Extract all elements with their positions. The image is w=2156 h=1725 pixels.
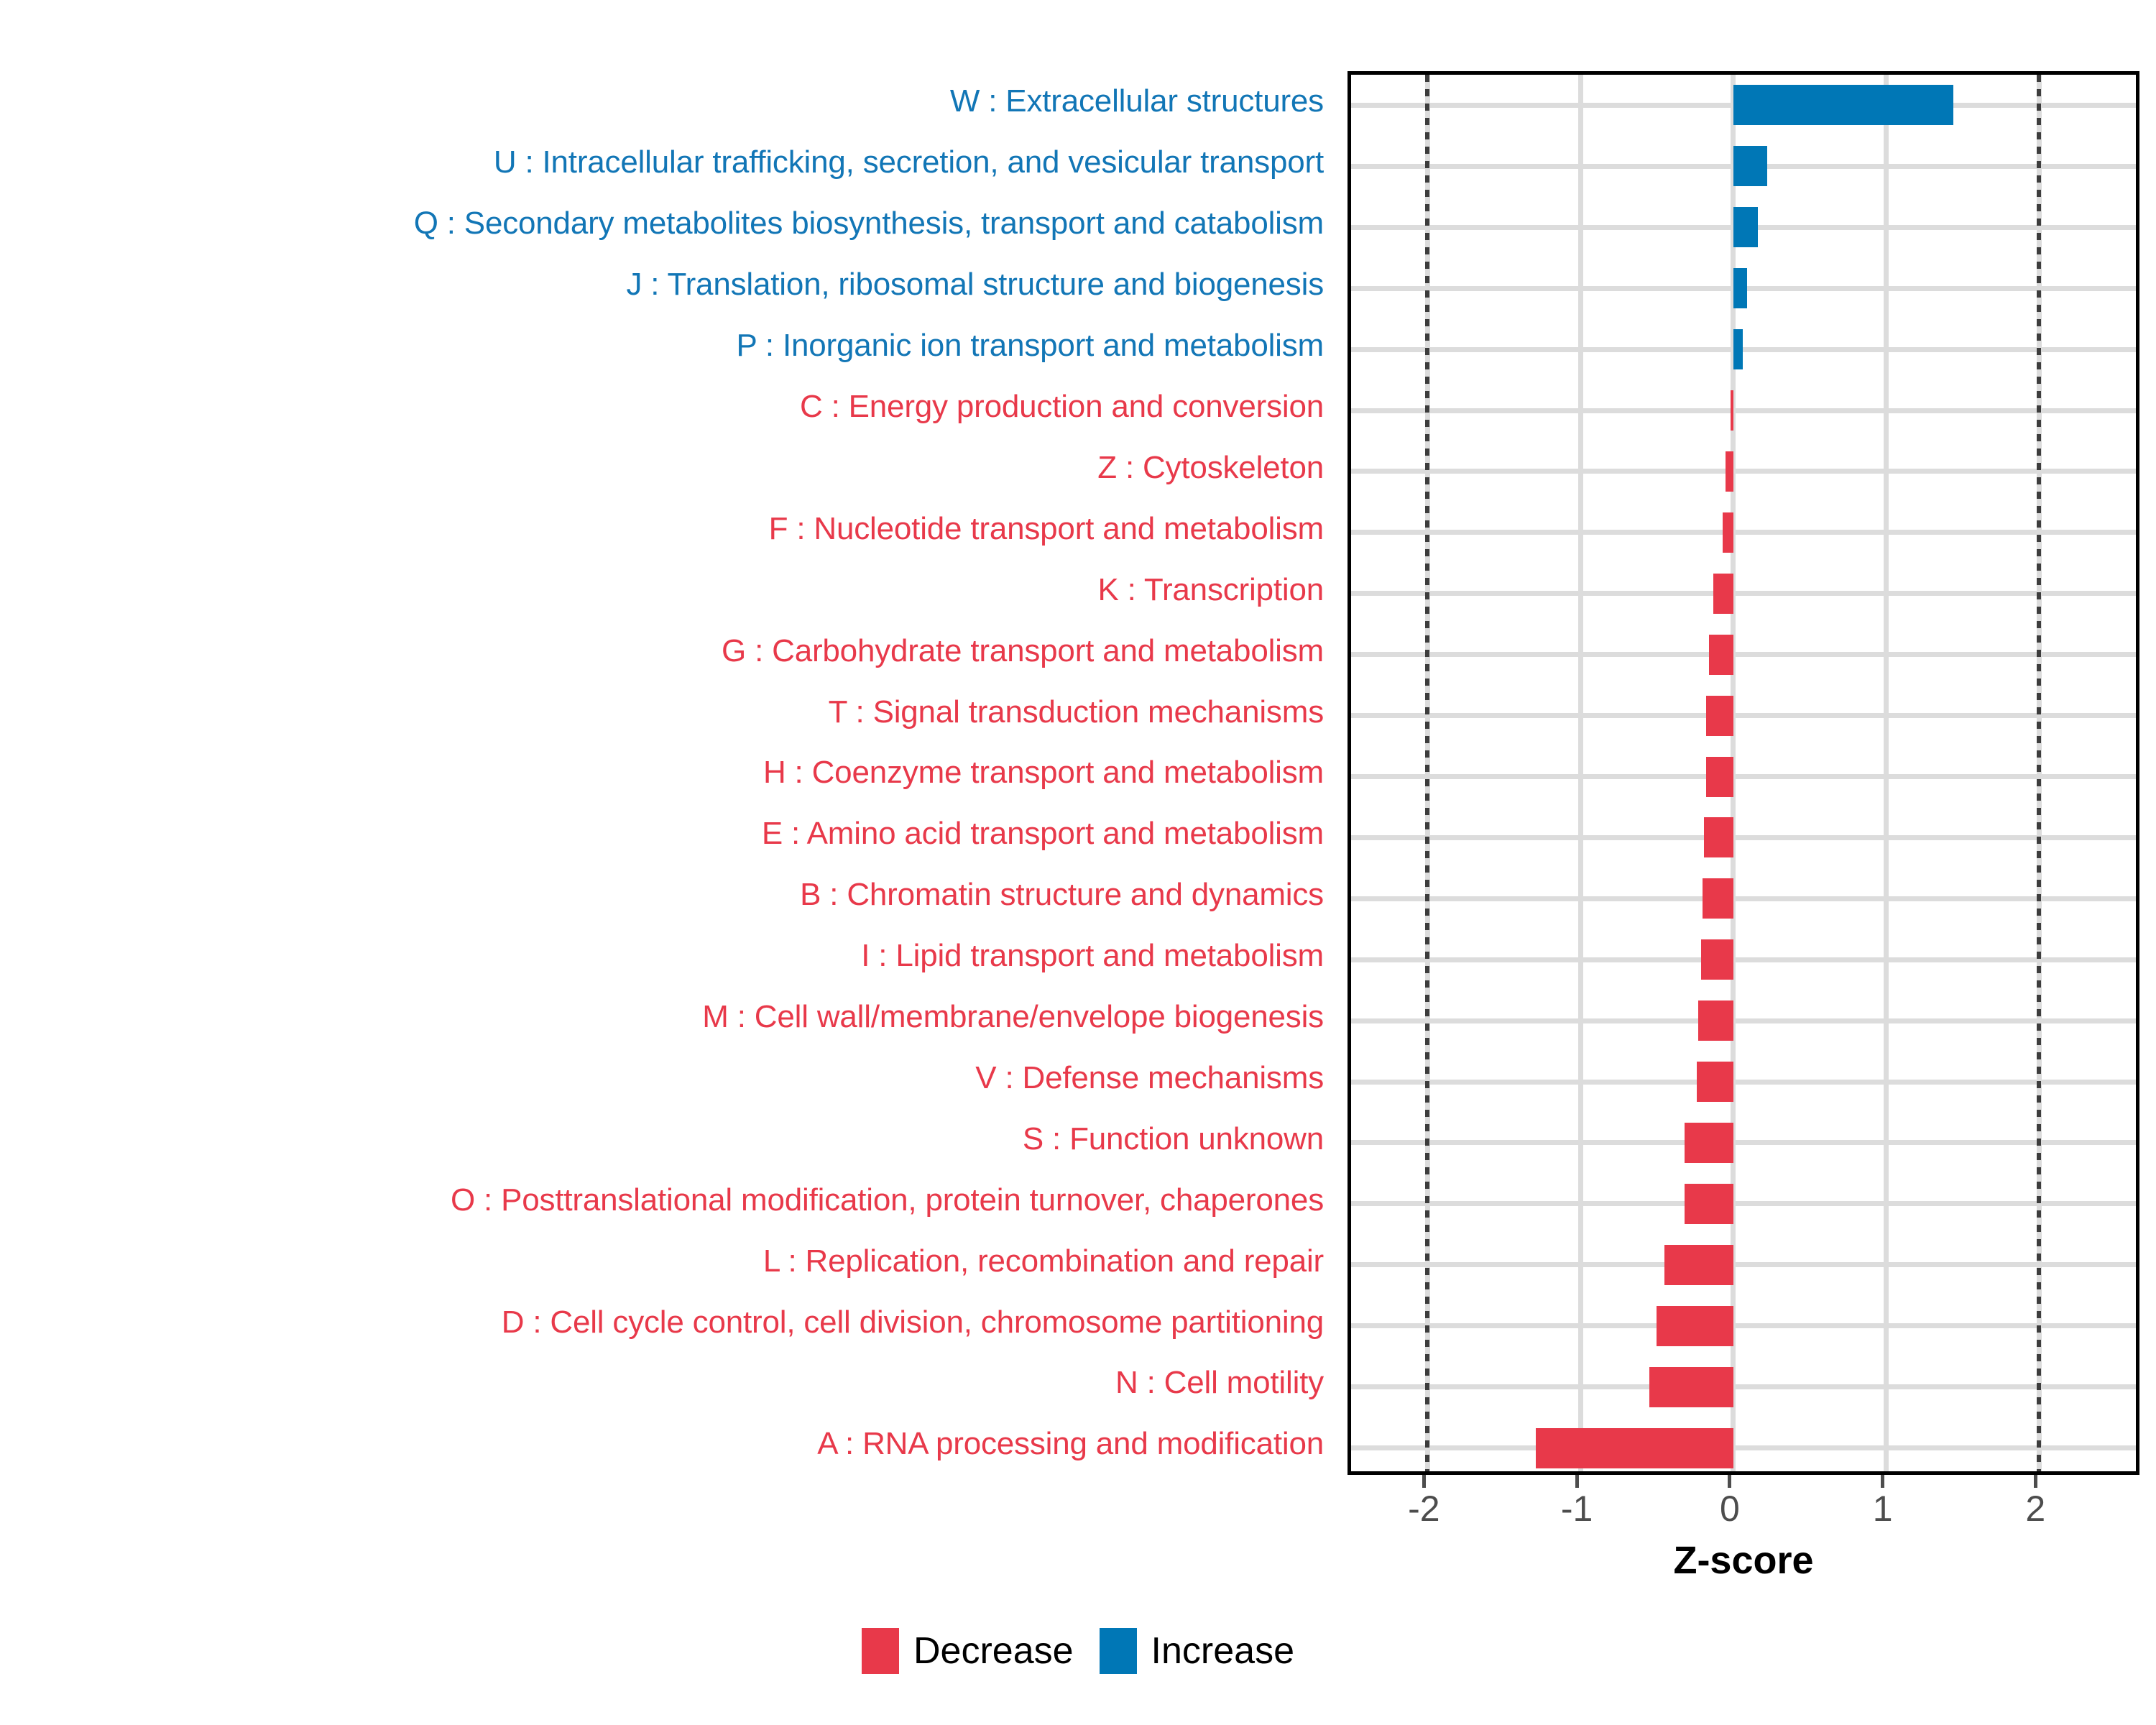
bar — [1701, 939, 1733, 980]
reference-line — [2037, 75, 2041, 1471]
y-axis-label: L : Replication, recombination and repai… — [763, 1246, 1337, 1277]
legend-label: Decrease — [913, 1632, 1074, 1670]
bar — [1726, 451, 1733, 492]
y-axis-label: T : Signal transduction mechanisms — [829, 696, 1337, 728]
plot-panel — [1347, 71, 2139, 1475]
y-axis-label: A : RNA processing and modification — [817, 1428, 1337, 1460]
bar — [1723, 512, 1733, 553]
horizontal-gridline — [1351, 713, 2136, 718]
legend-label: Increase — [1151, 1632, 1294, 1670]
chart-legend: DecreaseIncrease — [0, 1628, 2156, 1674]
y-axis-label: U : Intracellular trafficking, secretion… — [494, 147, 1337, 178]
bar — [1733, 329, 1743, 369]
horizontal-gridline — [1351, 957, 2136, 962]
horizontal-gridline — [1351, 652, 2136, 657]
y-axis-label: I : Lipid transport and metabolism — [861, 940, 1337, 972]
x-tick-label: 1 — [1873, 1491, 1893, 1527]
horizontal-gridline — [1351, 591, 2136, 596]
y-axis-label: D : Cell cycle control, cell division, c… — [502, 1307, 1337, 1338]
bar — [1733, 207, 1758, 247]
bar — [1657, 1306, 1733, 1346]
bar — [1706, 696, 1733, 736]
x-tick-label: -2 — [1408, 1491, 1439, 1527]
legend-item[interactable]: Decrease — [862, 1628, 1074, 1674]
y-axis-label: F : Nucleotide transport and metabolism — [769, 513, 1337, 545]
x-tick-mark — [1422, 1475, 1426, 1488]
bar — [1704, 817, 1733, 857]
vertical-gridline — [1884, 75, 1889, 1471]
y-axis-label: E : Amino acid transport and metabolism — [762, 818, 1337, 850]
horizontal-gridline — [1351, 469, 2136, 474]
plot-area — [1351, 75, 2136, 1471]
horizontal-gridline — [1351, 1140, 2136, 1145]
legend-swatch-icon — [1100, 1628, 1137, 1674]
bar — [1664, 1245, 1733, 1285]
horizontal-gridline — [1351, 835, 2136, 840]
y-axis-category-labels: W : Extracellular structuresU : Intracel… — [0, 71, 1337, 1475]
x-tick-mark — [1575, 1475, 1579, 1488]
bar — [1733, 268, 1747, 308]
horizontal-gridline — [1351, 774, 2136, 779]
x-tick-mark — [2034, 1475, 2037, 1488]
y-axis-label: K : Transcription — [1097, 574, 1337, 606]
x-axis-tick-labels: -2-1012 — [1347, 1491, 2139, 1534]
cog-zscore-bar-chart: W : Extracellular structuresU : Intracel… — [0, 0, 2156, 1725]
horizontal-gridline — [1351, 530, 2136, 535]
horizontal-gridline — [1351, 1201, 2136, 1206]
y-axis-label: Z : Cytoskeleton — [1097, 452, 1337, 484]
y-axis-label: P : Inorganic ion transport and metaboli… — [737, 330, 1337, 362]
y-axis-label: O : Posttranslational modification, prot… — [451, 1184, 1337, 1216]
x-tick-mark — [1881, 1475, 1884, 1488]
bar — [1649, 1367, 1733, 1407]
horizontal-gridline — [1351, 1384, 2136, 1389]
horizontal-gridline — [1351, 1262, 2136, 1267]
horizontal-gridline — [1351, 896, 2136, 901]
x-axis-tick-marks — [1347, 1475, 2139, 1489]
horizontal-gridline — [1351, 1445, 2136, 1450]
bar — [1709, 635, 1733, 675]
horizontal-gridline — [1351, 347, 2136, 352]
y-axis-label: B : Chromatin structure and dynamics — [800, 879, 1337, 911]
bar — [1706, 757, 1733, 797]
y-axis-label: J : Translation, ribosomal structure and… — [626, 269, 1337, 300]
x-tick-mark — [1728, 1475, 1731, 1488]
bar — [1713, 574, 1733, 614]
x-tick-label: 0 — [1720, 1491, 1740, 1527]
vertical-gridline — [1578, 75, 1583, 1471]
y-axis-label: H : Coenzyme transport and metabolism — [763, 757, 1337, 788]
legend-item[interactable]: Increase — [1100, 1628, 1294, 1674]
bar — [1536, 1428, 1733, 1468]
x-tick-label: -1 — [1561, 1491, 1593, 1527]
legend-swatch-icon — [862, 1628, 899, 1674]
bar — [1733, 85, 1953, 125]
bar — [1731, 390, 1733, 431]
y-axis-label: N : Cell motility — [1115, 1367, 1337, 1399]
y-axis-label: V : Defense mechanisms — [975, 1062, 1337, 1094]
horizontal-gridline — [1351, 1018, 2136, 1023]
y-axis-label: Q : Secondary metabolites biosynthesis, … — [414, 208, 1337, 239]
y-axis-label: M : Cell wall/membrane/envelope biogenes… — [702, 1001, 1337, 1033]
x-axis-title: Z-score — [1347, 1538, 2139, 1583]
y-axis-label: G : Carbohydrate transport and metabolis… — [722, 635, 1337, 667]
horizontal-gridline — [1351, 1080, 2136, 1085]
bar — [1733, 146, 1767, 186]
bar — [1685, 1123, 1733, 1163]
horizontal-gridline — [1351, 408, 2136, 413]
bar — [1698, 1000, 1733, 1041]
bar — [1703, 878, 1733, 919]
y-axis-label: W : Extracellular structures — [950, 86, 1337, 117]
y-axis-label: C : Energy production and conversion — [800, 391, 1337, 423]
horizontal-gridline — [1351, 1323, 2136, 1328]
bar — [1697, 1062, 1733, 1102]
y-axis-label: S : Function unknown — [1023, 1123, 1337, 1155]
reference-line — [1425, 75, 1429, 1471]
x-tick-label: 2 — [2025, 1491, 2045, 1527]
bar — [1685, 1184, 1733, 1224]
